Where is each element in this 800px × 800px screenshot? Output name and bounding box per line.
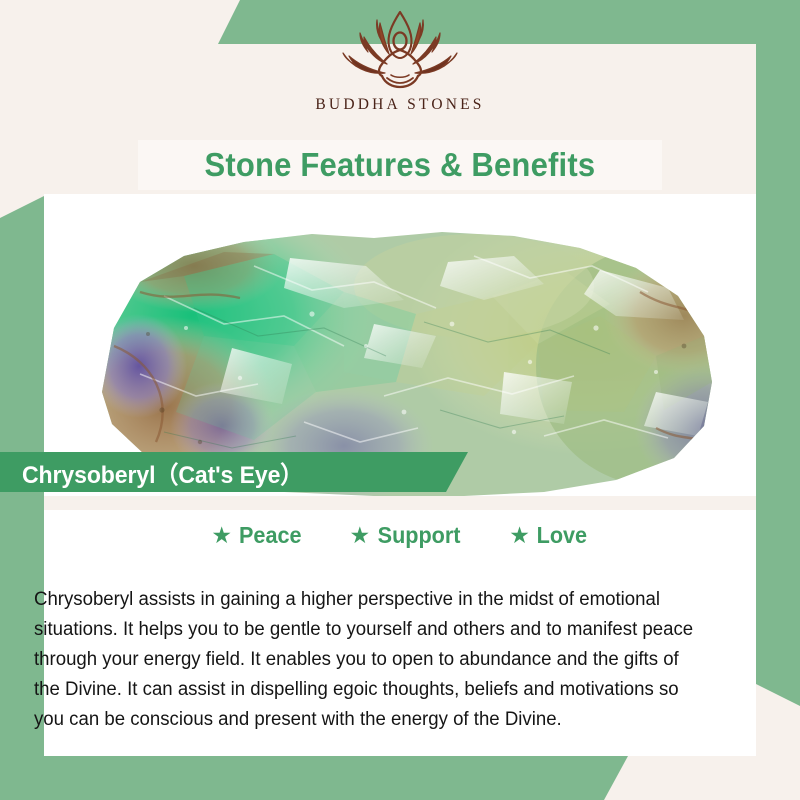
stone-name-label: Chrysoberyl（Cat's Eye）	[0, 452, 468, 492]
stone-photo	[44, 196, 756, 496]
panel-divider	[44, 496, 756, 510]
benefit-label: Peace	[239, 522, 302, 549]
title-banner: Stone Features & Benefits	[138, 140, 662, 190]
frame-bottom-band	[0, 756, 628, 800]
page-title: Stone Features & Benefits	[205, 146, 596, 184]
star-icon: ★	[350, 524, 371, 547]
benefit-tag-peace: ★ Peace	[211, 522, 303, 549]
benefit-tag-love: ★ Love	[509, 522, 588, 549]
star-icon: ★	[509, 524, 530, 547]
benefit-label: Support	[378, 522, 461, 549]
benefit-label: Love	[537, 522, 587, 549]
description-panel: ★ Peace ★ Support ★ Love Chrysoberyl ass…	[44, 496, 756, 756]
brand-header: BUDDHA STONES	[0, 6, 800, 114]
benefit-tag-list: ★ Peace ★ Support ★ Love	[44, 522, 756, 549]
stone-name-text: Chrysoberyl（Cat's Eye）	[22, 455, 303, 490]
infographic-page: BUDDHA STONES	[0, 0, 800, 800]
stone-description: Chrysoberyl assists in gaining a higher …	[34, 584, 701, 734]
brand-name: BUDDHA STONES	[315, 96, 484, 114]
lotus-meditation-icon	[325, 6, 475, 94]
benefit-tag-support: ★ Support	[350, 522, 464, 549]
star-icon: ★	[211, 524, 232, 547]
